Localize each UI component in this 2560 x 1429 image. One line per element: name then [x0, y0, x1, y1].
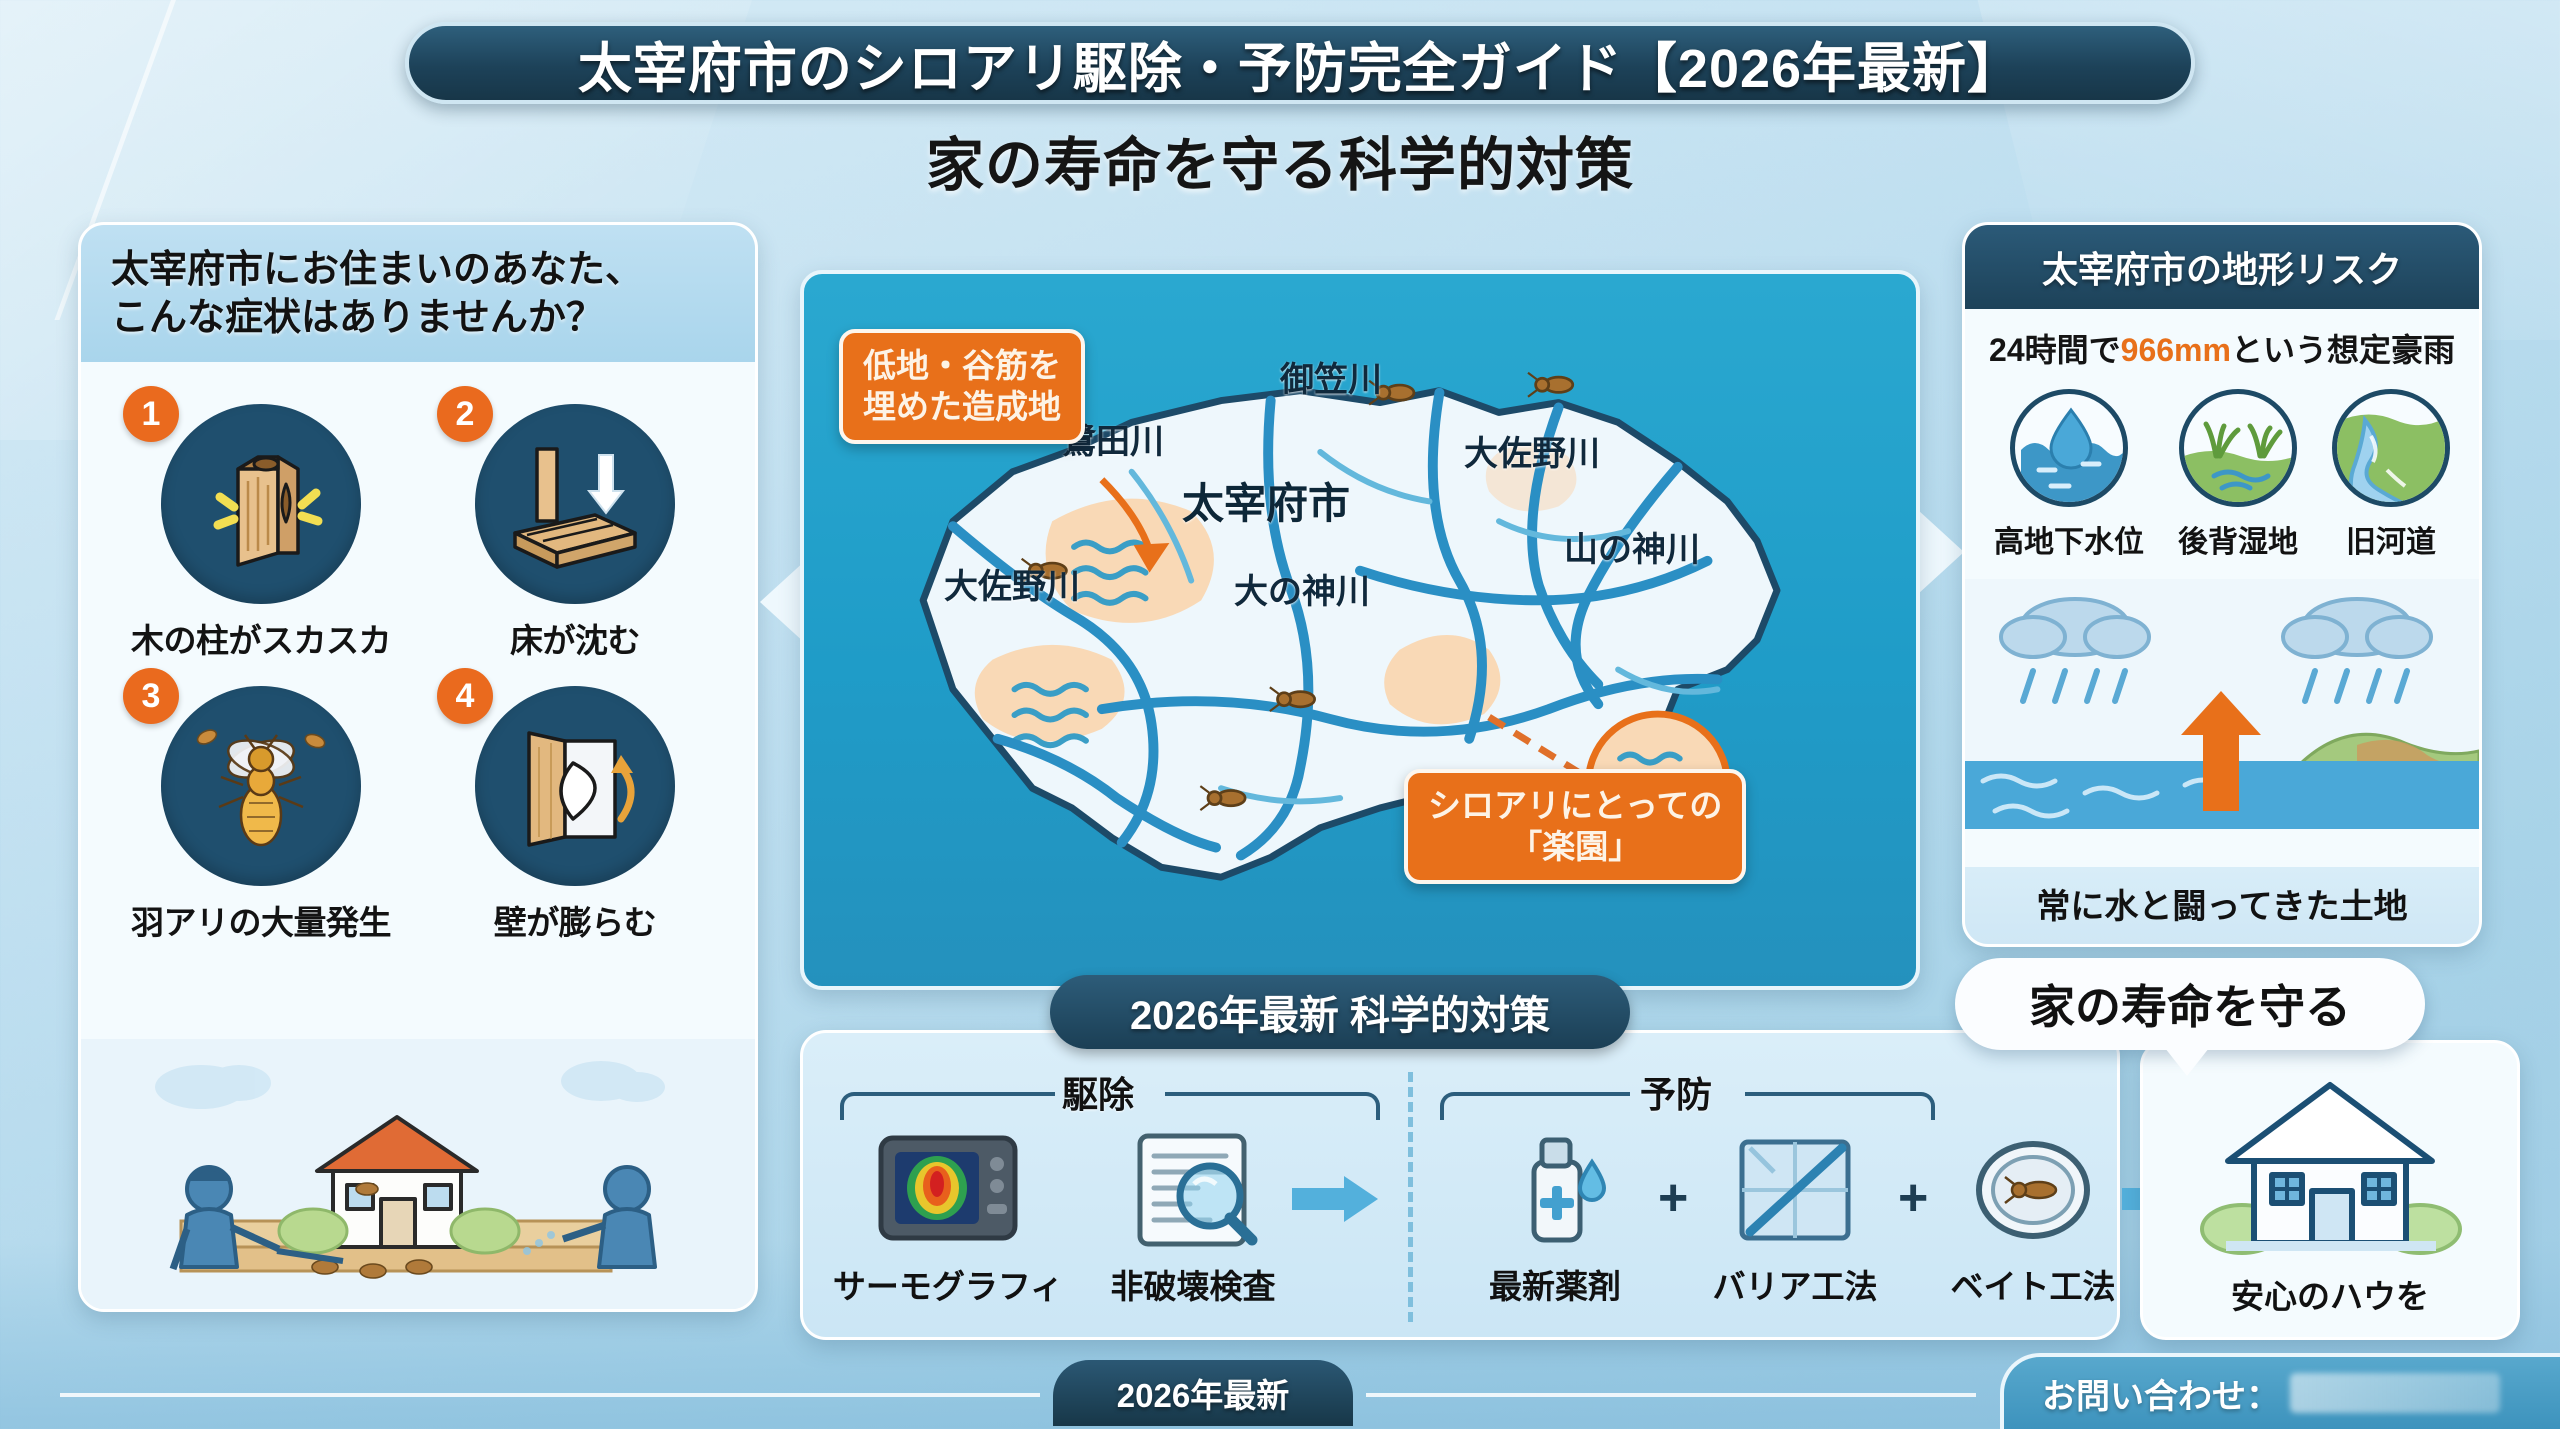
barrier-sheet-icon	[1720, 1128, 1870, 1252]
callout-lowland-fill: 低地・谷筋を 埋めた造成地	[839, 329, 1085, 444]
footer-badge-text: 2026年最新	[1117, 1369, 1289, 1417]
terrain-risk-footer: 常に水と闘ってきた土地	[1965, 867, 2479, 944]
step-barrier-method[interactable]: バリア工法	[1690, 1128, 1900, 1308]
map-river-label-mikasa: 御笠川	[1280, 352, 1382, 401]
water-droplet-table-icon	[2010, 389, 2128, 507]
step-label: サーモグラフィ	[828, 1260, 1068, 1308]
symptom-label: 羽アリの大量発生	[107, 896, 415, 944]
map-right-notch	[1918, 510, 1964, 594]
old-river-channel-icon	[2332, 389, 2450, 507]
symptom-label: 床が沈む	[421, 614, 729, 662]
bulging-wall-icon	[475, 686, 675, 886]
terrain-risk-heading: 太宰府市の地形リスク	[1965, 225, 2479, 309]
risk-item-old-channel[interactable]: 旧河道	[2332, 389, 2450, 561]
symptom-number-badge: 3	[123, 668, 179, 724]
symptom-item-4[interactable]: 4 壁が膨らむ	[421, 668, 729, 944]
footer-rule-left	[60, 1393, 1040, 1397]
symptom-label: 木の柱がスカスカ	[107, 614, 415, 662]
terrain-risk-heading-text: 太宰府市の地形リスク	[2042, 249, 2402, 290]
risk-item-groundwater[interactable]: 高地下水位	[1994, 389, 2144, 561]
map-city-label: 太宰府市	[1182, 470, 1350, 531]
safe-house-icon	[2143, 1043, 2517, 1266]
symptoms-panel: 太宰府市にお住まいのあなた、 こんな症状はありませんか？ 1	[78, 222, 758, 1312]
symptoms-heading-line1: 太宰府市にお住まいのあなた、	[111, 247, 725, 295]
callout-termite-paradise: シロアリにとっての 「楽園」	[1404, 769, 1746, 884]
step-latest-chemical[interactable]: 最新薬剤	[1450, 1128, 1660, 1308]
step-label: ベイト工法	[1928, 1260, 2138, 1308]
step-bait-method[interactable]: ベイト工法	[1928, 1128, 2138, 1308]
rainfall-flood-scene	[1965, 579, 2479, 829]
step-label: 非破壊検査	[1073, 1260, 1313, 1308]
thermal-camera-icon	[873, 1128, 1023, 1252]
step-label: 最新薬剤	[1450, 1260, 1660, 1308]
marsh-grass-icon	[2179, 389, 2297, 507]
result-badge: 家の寿命を守る	[1955, 958, 2425, 1050]
risk-item-label: 後背湿地	[2178, 517, 2298, 561]
bait-station-icon	[1958, 1128, 2108, 1252]
measures-divider	[1408, 1072, 1413, 1322]
group-label-prevention: 予防	[1640, 1066, 1712, 1118]
map-panel[interactable]: 御笠川 鷺田川 大佐野川 大佐野川 山の神川 大の神川 太宰府市 低地・谷筋を …	[800, 270, 1920, 990]
map-river-label-onokami: 大の神川	[1234, 564, 1370, 613]
symptom-number-badge: 2	[437, 386, 493, 442]
step-thermography[interactable]: サーモグラフィ	[828, 1128, 1068, 1308]
symptoms-grid: 1	[81, 362, 755, 952]
result-house-panel: 安心のハウを	[2140, 1040, 2520, 1340]
symptom-number-badge: 1	[123, 386, 179, 442]
group-bracket-left-b	[1165, 1092, 1380, 1120]
rainfall-prefix: 24時間で	[1989, 332, 2121, 368]
callout-lowland-line2: 埋めた造成地	[863, 386, 1061, 427]
terrain-risk-icon-row: 高地下水位 後背湿地	[1965, 375, 2479, 565]
step-nondestructive-inspection[interactable]: 非破壊検査	[1073, 1128, 1313, 1308]
symptom-item-1[interactable]: 1	[107, 386, 415, 662]
sinking-floor-icon	[475, 404, 675, 604]
footer-rule-right	[1366, 1393, 1976, 1397]
symptom-label: 壁が膨らむ	[421, 896, 729, 944]
risk-item-label: 旧河道	[2332, 517, 2450, 561]
symptom-item-2[interactable]: 2 床が沈む	[421, 386, 729, 662]
group-bracket-left-a	[840, 1092, 1055, 1120]
map-river-label-yamanokami: 山の神川	[1564, 522, 1700, 571]
page-subtitle: 家の寿命を守る科学的対策	[0, 118, 2560, 202]
page-title-banner: 太宰府市のシロアリ駆除・予防完全ガイド【2026年最新】	[405, 22, 2195, 104]
map-river-label-osano-ne: 大佐野川	[1464, 426, 1600, 475]
group-label-extermination: 駆除	[1062, 1066, 1134, 1118]
measures-title-pill: 2026年最新 科学的対策	[1050, 975, 1630, 1049]
damaged-wood-post-icon	[161, 404, 361, 604]
callout-paradise-line2: 「楽園」	[1428, 826, 1722, 867]
plus-icon-2: +	[1898, 1168, 1928, 1228]
measures-title: 2026年最新 科学的対策	[1130, 983, 1550, 1041]
pest-control-workers-house-icon	[81, 1039, 755, 1309]
result-house-label: 安心のハウを	[2143, 1270, 2517, 1318]
symptoms-heading-line2: こんな症状はありませんか？	[111, 295, 725, 343]
plus-icon-1: +	[1658, 1168, 1688, 1228]
step-label: バリア工法	[1690, 1260, 1900, 1308]
result-badge-text: 家の寿命を守る	[2029, 971, 2351, 1037]
group-bracket-right-a	[1440, 1092, 1630, 1120]
risk-item-backmarsh[interactable]: 後背湿地	[2178, 389, 2298, 561]
rainfall-value: 966mm	[2121, 332, 2231, 368]
page-title: 太宰府市のシロアリ駆除・予防完全ガイド【2026年最新】	[578, 24, 2022, 103]
map-river-label-osano-sw: 大佐野川	[944, 559, 1080, 608]
rainfall-statement: 24時間で966mmという想定豪雨	[1965, 309, 2479, 375]
magnifier-inspection-icon	[1118, 1128, 1268, 1252]
symptom-number-badge: 4	[437, 668, 493, 724]
callout-lowland-line1: 低地・谷筋を	[863, 345, 1061, 386]
rainfall-suffix: という想定豪雨	[2231, 332, 2455, 368]
symptom-item-3[interactable]: 3	[107, 668, 415, 944]
group-bracket-right-b	[1745, 1092, 1935, 1120]
right-arrow-icon	[1292, 1176, 1378, 1222]
risk-item-label: 高地下水位	[1994, 517, 2144, 561]
terrain-risk-panel: 太宰府市の地形リスク 24時間で966mmという想定豪雨 高地下水位	[1962, 222, 2482, 947]
contact-label: お問い合わせ：	[2042, 1369, 2280, 1418]
symptoms-heading: 太宰府市にお住まいのあなた、 こんな症状はありませんか？	[81, 225, 755, 362]
callout-paradise-line1: シロアリにとっての	[1428, 785, 1722, 826]
contact-value-redacted	[2290, 1373, 2500, 1413]
swarming-winged-ant-icon	[161, 686, 361, 886]
contact-block[interactable]: お問い合わせ：	[2000, 1353, 2560, 1429]
chemical-spray-bottle-icon	[1480, 1128, 1630, 1252]
footer-badge: 2026年最新	[1053, 1360, 1353, 1426]
